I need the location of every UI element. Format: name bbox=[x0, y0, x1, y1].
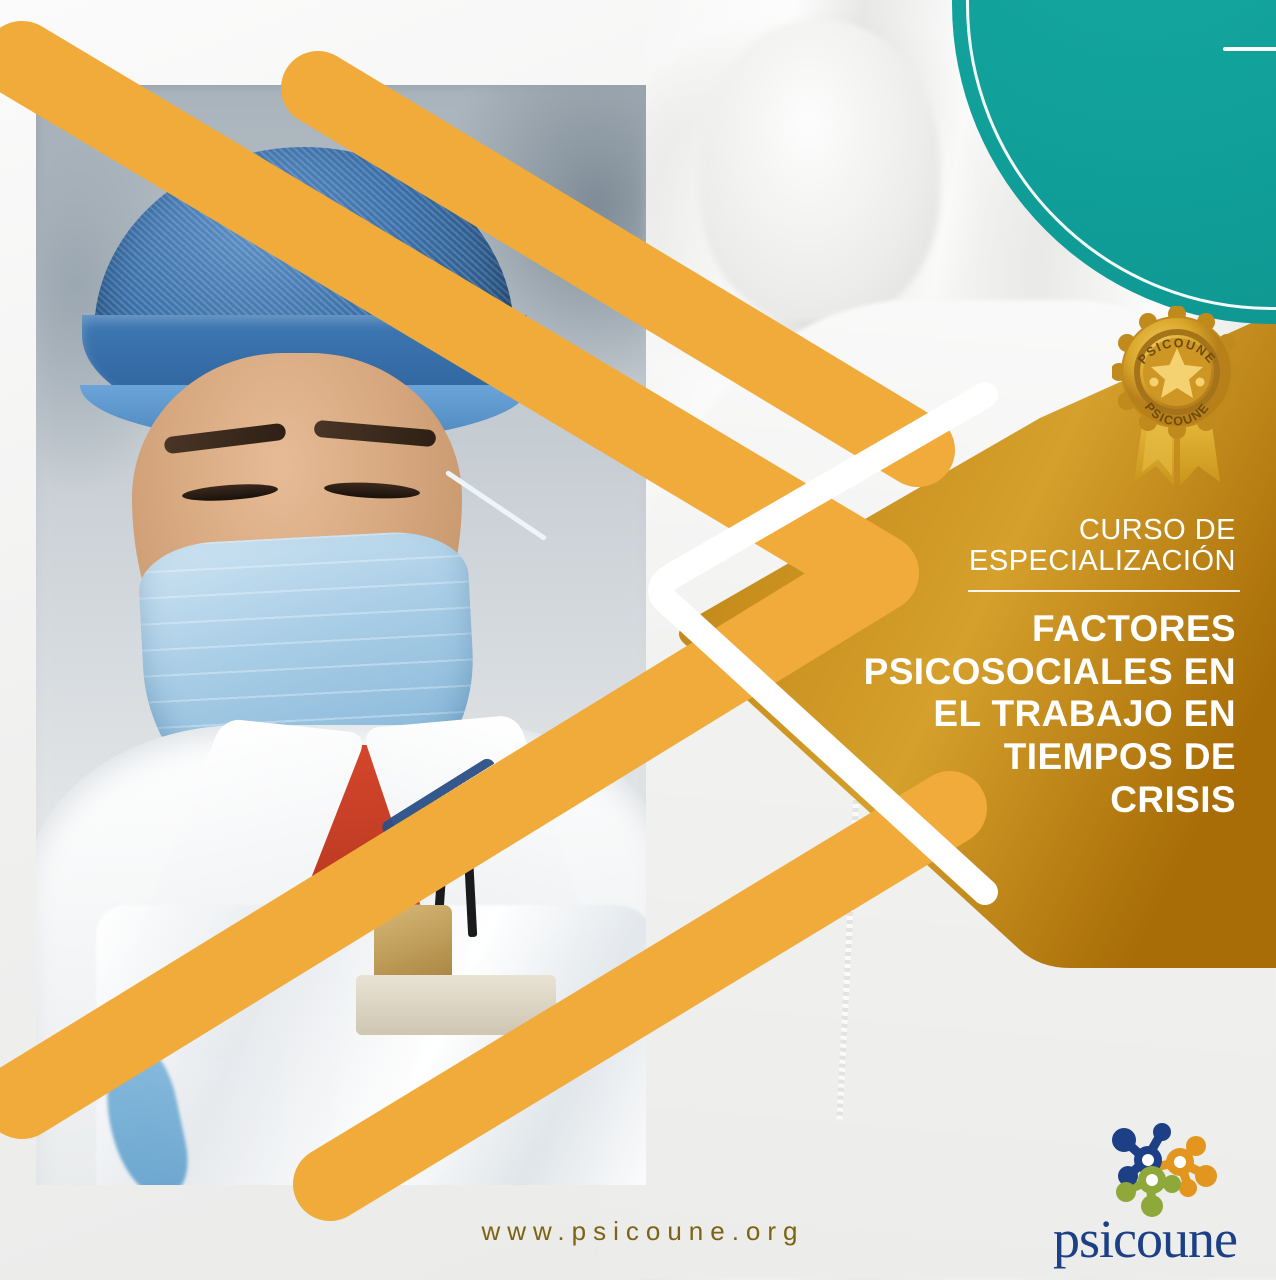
kicker-line-1: CURSO DE bbox=[850, 515, 1236, 546]
title-line-5: CRISIS bbox=[850, 779, 1236, 822]
kicker-line-2: ESPECIALIZACIÓN bbox=[850, 546, 1236, 577]
poster-root: CURSO DE ESPECIALIZACIÓN FACTORES PSICOS… bbox=[0, 0, 1276, 1280]
title-line-3: EL TRABAJO EN bbox=[850, 693, 1236, 736]
badge-divider bbox=[1223, 47, 1276, 51]
title-line-1: FACTORES bbox=[850, 608, 1236, 651]
badge-vacancy-line-2: LIMITA bbox=[1104, 107, 1276, 153]
badge-content: A S/. VACA LIMITA 958 bbox=[952, 0, 1276, 208]
brand-logo[interactable]: psicoune bbox=[1032, 1118, 1258, 1268]
badge-phone: 958 bbox=[1104, 163, 1276, 208]
title-line-4: TIEMPOS DE bbox=[850, 736, 1236, 779]
gold-award-seal: PSICOUNE PSICOUNE bbox=[1112, 306, 1242, 491]
badge-vacancy-line-1: VACA bbox=[1104, 61, 1276, 107]
course-title-block: CURSO DE ESPECIALIZACIÓN FACTORES PSICOS… bbox=[850, 515, 1240, 822]
website-url[interactable]: www.psicoune.org bbox=[418, 1216, 868, 1247]
kicker-divider bbox=[968, 590, 1240, 592]
course-title: FACTORES PSICOSOCIALES EN EL TRABAJO EN … bbox=[850, 608, 1240, 823]
title-line-2: PSICOSOCIALES EN bbox=[850, 651, 1236, 694]
badge-price: A S/. bbox=[1104, 0, 1276, 35]
course-kicker: CURSO DE ESPECIALIZACIÓN bbox=[850, 515, 1240, 578]
brand-wordmark: psicoune bbox=[1032, 1212, 1258, 1266]
molecule-network-icon bbox=[1084, 1118, 1234, 1218]
